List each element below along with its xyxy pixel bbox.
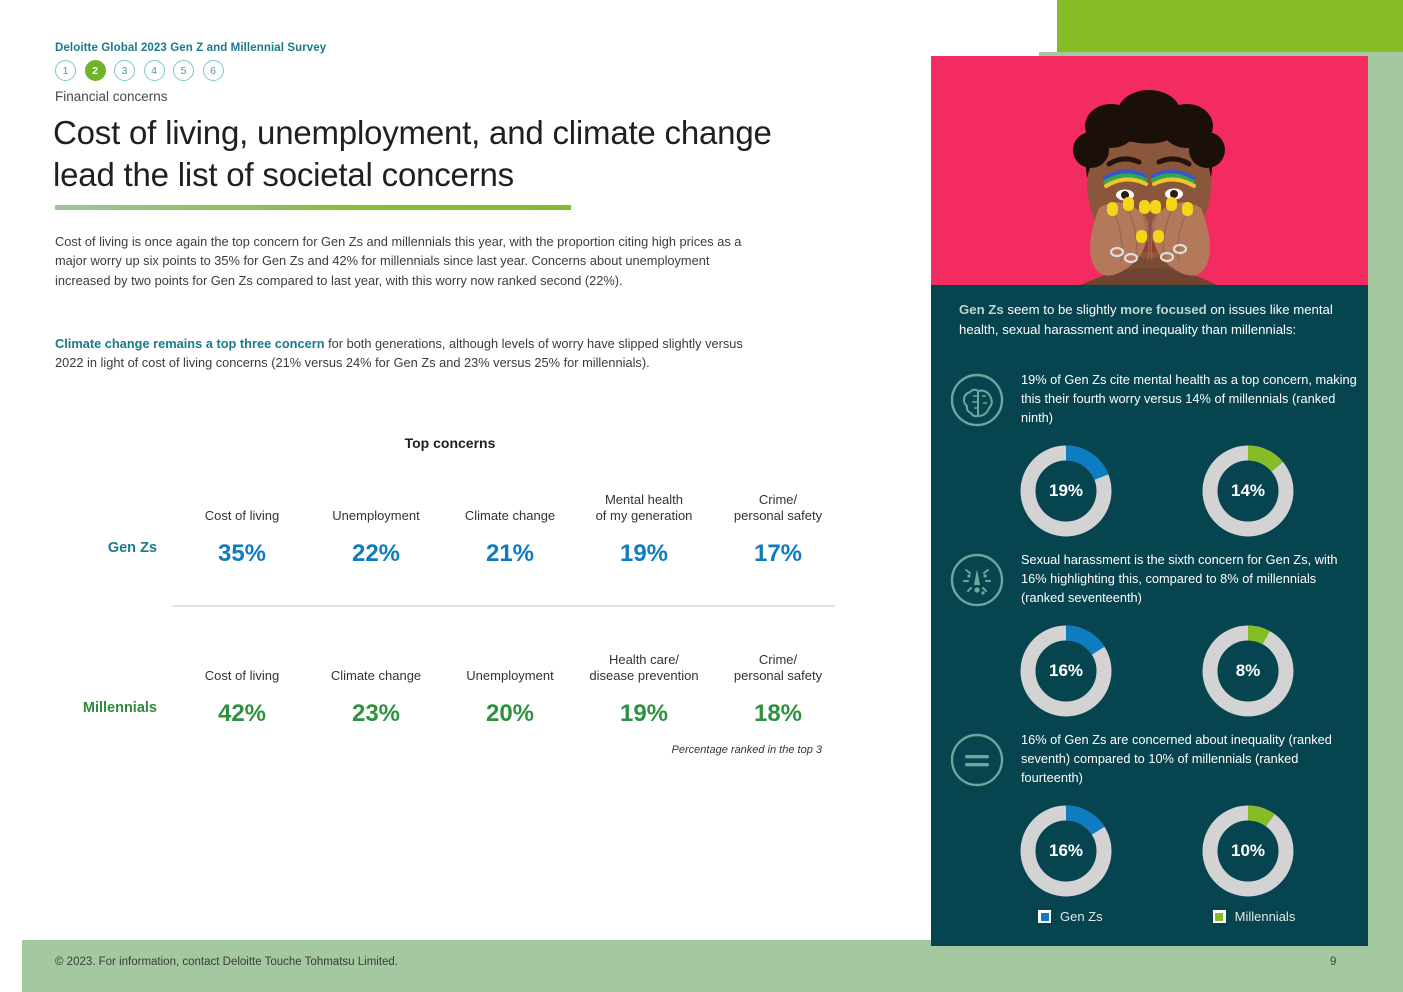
data-cell: 19% bbox=[577, 684, 711, 728]
panel-intro-bold-1: Gen Zs bbox=[959, 302, 1004, 317]
portrait-illustration bbox=[931, 56, 1368, 285]
table-footnote: Percentage ranked in the top 3 bbox=[0, 744, 822, 756]
data-cell: 35% bbox=[175, 524, 309, 568]
cover-photo bbox=[931, 56, 1368, 285]
panel-stat-2: Sexual harassment is the sixth concern f… bbox=[949, 550, 1359, 608]
data-cell: 17% bbox=[711, 524, 845, 568]
table-title: Top concerns bbox=[0, 435, 900, 451]
page-root: Deloitte Global 2023 Gen Z and Millennia… bbox=[0, 0, 1403, 992]
harassment-alert-icon bbox=[949, 552, 1005, 608]
panel-stat-text: 16% of Gen Zs are concerned about inequa… bbox=[1021, 730, 1359, 788]
donut-value: 8% bbox=[1200, 623, 1296, 719]
donut-value: 16% bbox=[1018, 803, 1114, 899]
legend-item-millennials: Millennials bbox=[1213, 909, 1296, 924]
step-5[interactable]: 5 bbox=[173, 60, 194, 81]
data-cell: 22% bbox=[309, 524, 443, 568]
white-corner-bottom-left bbox=[0, 940, 22, 992]
table-header-row: Cost of livingUnemploymentClimate change… bbox=[55, 490, 845, 524]
data-cell: 42% bbox=[175, 684, 309, 728]
climate-paragraph: Climate change remains a top three conce… bbox=[55, 334, 763, 373]
step-6[interactable]: 6 bbox=[203, 60, 224, 81]
data-cell: 23% bbox=[309, 684, 443, 728]
donut-gen-zs: 19% bbox=[1018, 443, 1114, 539]
equals-inequality-icon bbox=[949, 732, 1005, 788]
table-row: Gen Zs35%22%21%19%17% bbox=[55, 524, 845, 568]
panel-stat-text: Sexual harassment is the sixth concern f… bbox=[1021, 550, 1359, 608]
column-header: Crime/personal safety bbox=[711, 650, 845, 684]
brain-icon bbox=[949, 372, 1005, 428]
step-3[interactable]: 3 bbox=[114, 60, 135, 81]
panel-stat-3: 16% of Gen Zs are concerned about inequa… bbox=[949, 730, 1359, 788]
data-cell: 20% bbox=[443, 684, 577, 728]
donut-value: 16% bbox=[1018, 623, 1114, 719]
column-header: Cost of living bbox=[175, 650, 309, 684]
panel-stat-1: 19% of Gen Zs cite mental health as a to… bbox=[949, 370, 1359, 428]
data-cell: 18% bbox=[711, 684, 845, 728]
top-concerns-table: Cost of livingUnemploymentClimate change… bbox=[55, 490, 845, 728]
column-header: Health care/disease prevention bbox=[577, 650, 711, 684]
intro-paragraph: Cost of living is once again the top con… bbox=[55, 232, 763, 290]
page-number: 9 bbox=[1330, 956, 1336, 968]
table-row: Millennials42%23%20%19%18% bbox=[55, 684, 845, 728]
row-label-gen-zs: Gen Zs bbox=[55, 540, 175, 556]
donut-gen-zs: 16% bbox=[1018, 623, 1114, 719]
data-cell: 21% bbox=[443, 524, 577, 568]
panel-intro-text: Gen Zs seem to be slightly more focused … bbox=[959, 300, 1344, 340]
legend-swatch bbox=[1213, 910, 1226, 923]
copyright-text: © 2023. For information, contact Deloitt… bbox=[55, 956, 398, 968]
donut-value: 19% bbox=[1018, 443, 1114, 539]
legend-label: Gen Zs bbox=[1060, 909, 1103, 924]
step-indicator[interactable]: 123456 bbox=[55, 60, 224, 81]
donut-pair-2: 16%8% bbox=[1018, 623, 1296, 719]
table-header-row: Cost of livingClimate changeUnemployment… bbox=[55, 650, 845, 684]
green-accent-band-top bbox=[1039, 0, 1403, 52]
data-cell: 19% bbox=[577, 524, 711, 568]
survey-eyebrow: Deloitte Global 2023 Gen Z and Millennia… bbox=[55, 42, 326, 54]
column-header: Mental healthof my generation bbox=[577, 490, 711, 524]
step-2[interactable]: 2 bbox=[85, 60, 106, 81]
donut-gen-zs: 16% bbox=[1018, 803, 1114, 899]
step-1[interactable]: 1 bbox=[55, 60, 76, 81]
step-4[interactable]: 4 bbox=[144, 60, 165, 81]
column-header: Climate change bbox=[309, 650, 443, 684]
donut-value: 10% bbox=[1200, 803, 1296, 899]
row-label-millennials: Millennials bbox=[55, 700, 175, 716]
column-header: Climate change bbox=[443, 490, 577, 524]
page-title: Cost of living, unemployment, and climat… bbox=[53, 112, 813, 196]
title-accent-rule bbox=[55, 205, 571, 210]
donut-pair-3: 16%10% bbox=[1018, 803, 1296, 899]
climate-paragraph-lead: Climate change remains a top three conce… bbox=[55, 336, 325, 351]
column-header: Unemployment bbox=[309, 490, 443, 524]
column-header: Cost of living bbox=[175, 490, 309, 524]
white-notch-top-right bbox=[1039, 0, 1057, 52]
section-label: Financial concerns bbox=[55, 89, 168, 104]
table-row-divider bbox=[172, 605, 835, 607]
donut-millennials: 14% bbox=[1200, 443, 1296, 539]
column-header: Crime/personal safety bbox=[711, 490, 845, 524]
donut-value: 14% bbox=[1200, 443, 1296, 539]
column-header: Unemployment bbox=[443, 650, 577, 684]
donut-millennials: 10% bbox=[1200, 803, 1296, 899]
legend-swatch bbox=[1038, 910, 1051, 923]
legend-item-gen-zs: Gen Zs bbox=[1038, 909, 1103, 924]
panel-stat-text: 19% of Gen Zs cite mental health as a to… bbox=[1021, 370, 1359, 428]
panel-intro-mid: seem to be slightly bbox=[1004, 302, 1121, 317]
donut-legend: Gen ZsMillennials bbox=[1038, 909, 1295, 924]
legend-label: Millennials bbox=[1235, 909, 1296, 924]
donut-pair-1: 19%14% bbox=[1018, 443, 1296, 539]
panel-intro-bold-2: more focused bbox=[1120, 302, 1206, 317]
donut-millennials: 8% bbox=[1200, 623, 1296, 719]
